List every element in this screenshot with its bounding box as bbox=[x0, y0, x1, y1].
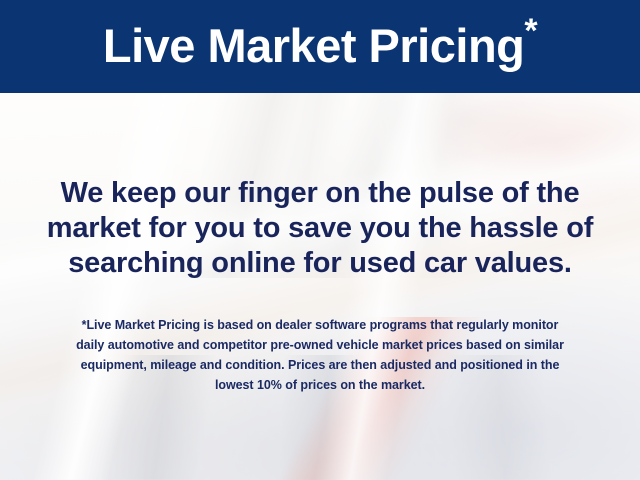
header-banner: Live Market Pricing* bbox=[0, 0, 640, 93]
disclaimer-text: *Live Market Pricing is based on dealer … bbox=[28, 315, 612, 395]
disclaimer-line-2: daily automotive and competitor pre-owne… bbox=[28, 335, 612, 355]
headline-line-2: market for you to save you the hassle of bbox=[26, 211, 614, 246]
headline-line-1: We keep our finger on the pulse of the bbox=[26, 176, 614, 211]
live-market-pricing-poster: Live Market Pricing* We keep our finger … bbox=[0, 0, 640, 480]
poster-content: We keep our finger on the pulse of the m… bbox=[0, 93, 640, 480]
disclaimer-line-3: equipment, mileage and condition. Prices… bbox=[28, 355, 612, 375]
headline-line-3: searching online for used car values. bbox=[26, 246, 614, 281]
banner-title-asterisk: * bbox=[524, 12, 537, 50]
disclaimer-line-4: lowest 10% of prices on the market. bbox=[28, 375, 612, 395]
banner-title-text: Live Market Pricing bbox=[103, 19, 525, 72]
headline: We keep our finger on the pulse of the m… bbox=[26, 176, 614, 281]
banner-title: Live Market Pricing* bbox=[103, 22, 537, 71]
disclaimer-line-1: *Live Market Pricing is based on dealer … bbox=[28, 315, 612, 335]
